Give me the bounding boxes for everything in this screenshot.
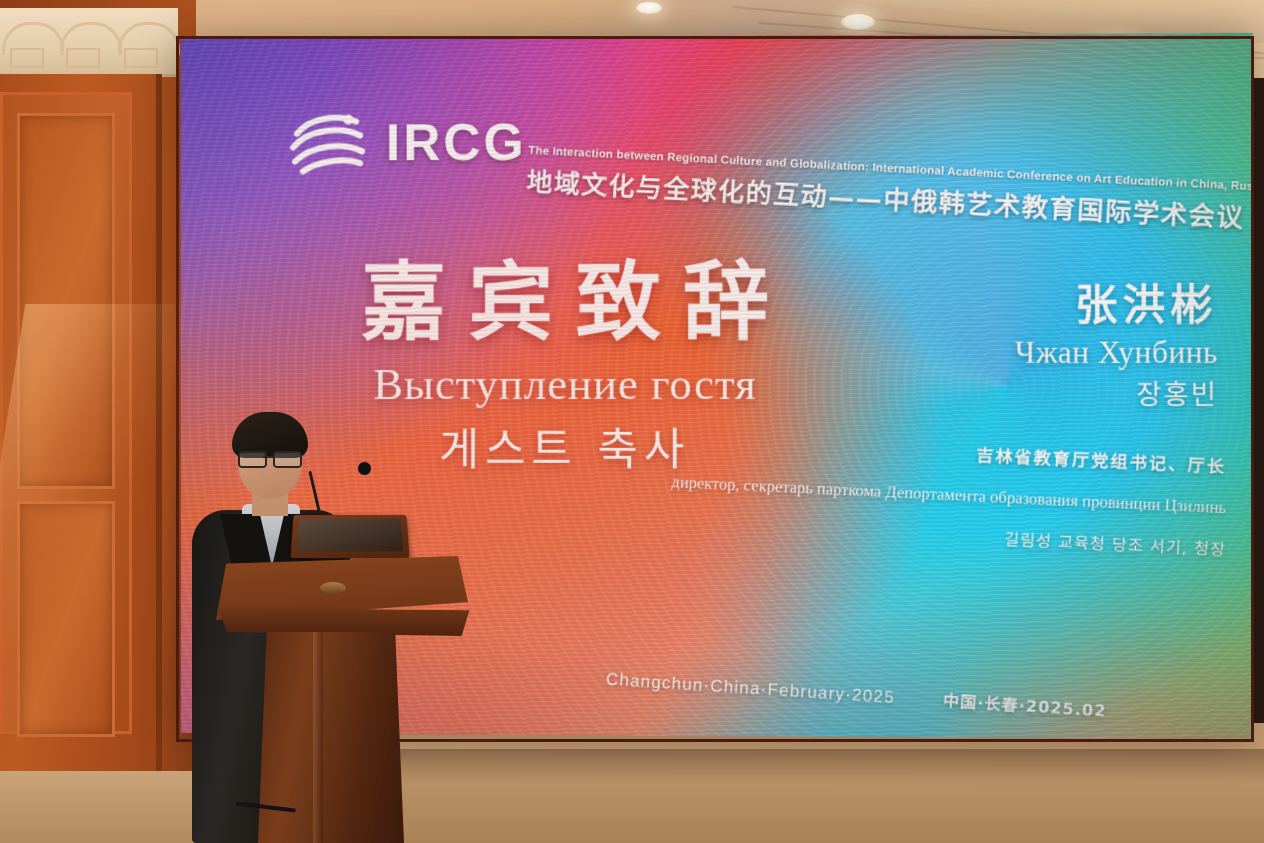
- baseboard: [0, 771, 196, 843]
- speaker-name-block: 张洪彬 Чжан Хунбинь 장홍빈: [1015, 271, 1218, 412]
- downlight-icon: [841, 14, 875, 30]
- speaker-role-chinese: 吉林省教育厅党组书记、厅长: [533, 421, 1227, 478]
- door-panel-upper: [17, 113, 115, 489]
- conference-photo-scene: IRCG The Interaction between Regional Cu…: [0, 0, 1264, 843]
- speaker-name-chinese: 张洪彬: [1015, 271, 1218, 333]
- speaker-role-block: 吉林省教育厅党组书记、厅长 директор, секретарь партко…: [533, 452, 1227, 561]
- speaker-name-korean: 장홍빈: [1015, 373, 1218, 412]
- cornice-moulding: [0, 8, 178, 77]
- footer-chinese: 中国·长春·2025.02: [942, 687, 1107, 722]
- ircg-acronym: IRCG: [386, 117, 527, 169]
- ircg-globe-logo-icon: [287, 108, 372, 180]
- door-panel-lower: [17, 501, 115, 737]
- downlight-icon: [636, 2, 662, 14]
- microphone-head-icon: [358, 462, 371, 475]
- podium-column: [258, 632, 404, 843]
- headline-russian: Выступление гостя: [307, 358, 824, 410]
- laptop[interactable]: [290, 515, 409, 558]
- conference-title-block: The Interaction between Regional Culture…: [526, 145, 1231, 235]
- eyeglasses-icon: [238, 451, 302, 464]
- speaker-name-russian: Чжан Хунбинь: [1015, 335, 1218, 371]
- footer-english: Changchun·China·February·2025: [606, 670, 896, 709]
- laptop-screen: [297, 519, 403, 552]
- podium: [216, 556, 468, 843]
- headline-chinese: 嘉宾致辞: [307, 258, 824, 349]
- podium-mic-base: [320, 582, 346, 594]
- podium-lip: [212, 608, 472, 636]
- door[interactable]: [0, 74, 162, 774]
- slide-footer: Changchun·China·February·2025 中国·长春·2025…: [606, 666, 1108, 722]
- brand-row: IRCG: [287, 107, 526, 180]
- left-wall: [0, 0, 196, 843]
